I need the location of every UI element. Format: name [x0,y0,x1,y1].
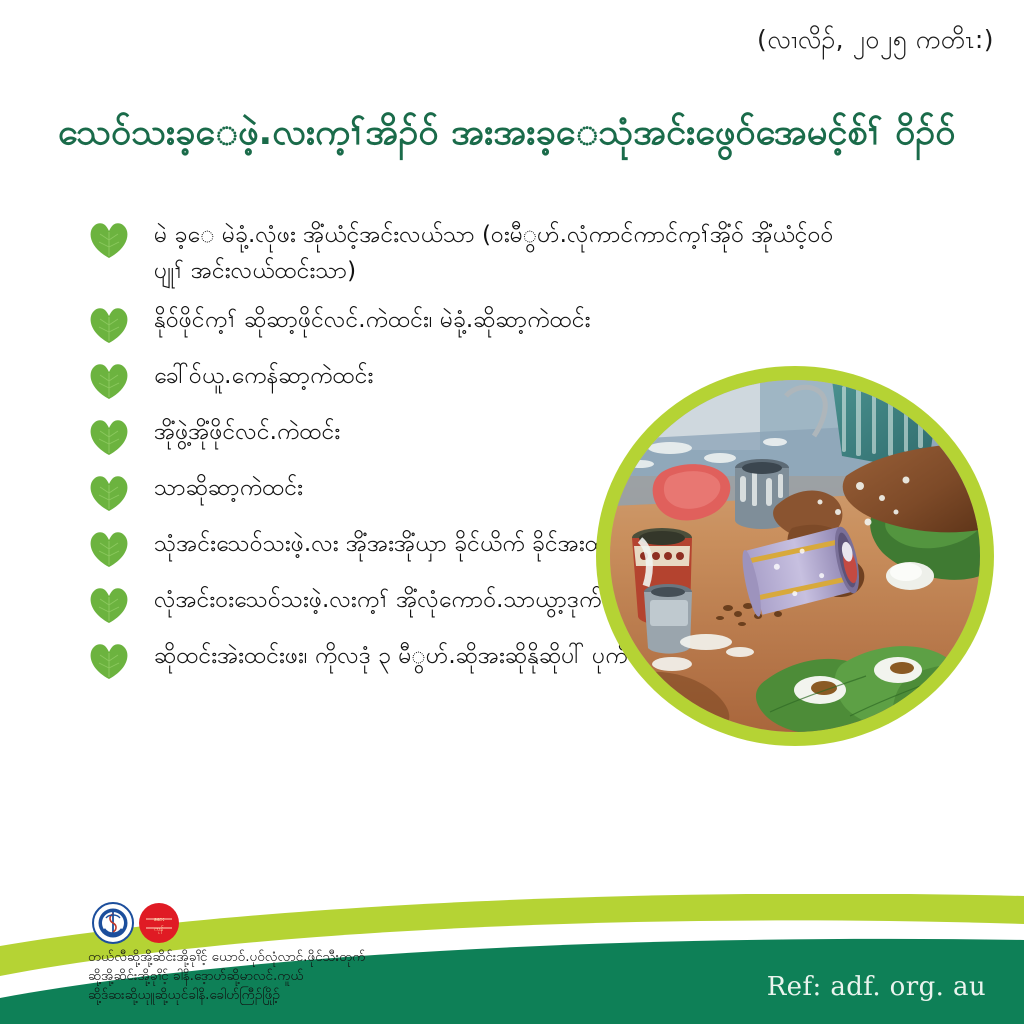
betel-leaf-icon [88,473,130,513]
list-item: မဲ ခ့ေ မဲခုံ့.လုံဖး အိုံယံင့်အင်းလယ်သာ (… [88,218,858,289]
betel-leaf-icon [88,585,130,625]
credit-line: တယ်လီဆို့အို့ဆိင်းအို့ခုၢိင့် ယောဝ်.ပုဝ်… [88,948,365,967]
list-item-label: အိုံဖွဲ့အိုံဖိုင်လင်.ကဲထင်း [154,415,714,451]
logo-row: ဆေး ကုန် [92,902,365,944]
header-date-note: (လၢလိၣ်, ၂၀၂၅ ကတိၤ:) [757,24,994,61]
svg-text:ကုန်: ကုန် [155,925,164,934]
betel-leaf-icon [88,305,130,345]
list-item: နိုဝ်ဖိုင်က့ၢ် ဆိုဆာ့ဖိုင်လင်.ကဲထင်း၊ မဲ… [88,303,858,345]
list-item-label: နိုဝ်ဖိုင်က့ၢ် ဆိုဆာ့ဖိုင်လင်.ကဲထင်း၊ မဲ… [154,303,858,339]
betel-leaf-icon [88,641,130,681]
ministry-of-health-logo [92,902,134,944]
photo-clip [610,380,980,732]
department-logo: ဆေး ကုန် [138,902,180,944]
footer-credit-block: ဆေး ကုန် တယ်လီဆို့အို့ဆိင်းအို့ခုၢိင့် ယ… [88,902,365,1005]
list-item-label: မဲ ခ့ေ မဲခုံ့.လုံဖး အိုံယံင့်အင်းလယ်သာ (… [154,218,858,289]
betel-leaf-icon [88,417,130,457]
credit-line: ဆို့ဒ်ဆးဆို့ယုူဆို့ယုင်ခါနိ.ခေါဟ်ကြီၣ်ဖြ… [88,986,365,1005]
betel-quid-preparation-photo [596,366,994,746]
svg-text:ဆေး: ဆေး [154,916,165,923]
reference-label: Ref: adf. org. au [767,972,986,1002]
credit-line: ဆို့အို့ဆိင်းအို့ခုၢိင့် ခါနိ.ဒေ့ာဟ်ဆို့… [88,967,365,986]
poster-canvas: (လၢလိၣ်, ၂၀၂၅ ကတိၤ:) သေဝ်သးခ့ေဖဲ့.လးက့ၢ်… [0,0,1024,1024]
betel-leaf-icon [88,220,130,260]
credit-lines: တယ်လီဆို့အို့ဆိင်းအို့ခုၢိင့် ယောဝ်.ပုဝ်… [88,948,365,1005]
betel-leaf-icon [88,529,130,569]
page-title: သေဝ်သးခ့ေဖဲ့.လးက့ၢ်အိၣ်ဝ် အးအးခ့ေသုံအင်း… [58,110,978,157]
betel-leaf-icon [88,361,130,401]
list-item-label: ခေါ်ဝ်ယူ.ကေန်ဆာ့ကဲထင်း [154,359,714,395]
